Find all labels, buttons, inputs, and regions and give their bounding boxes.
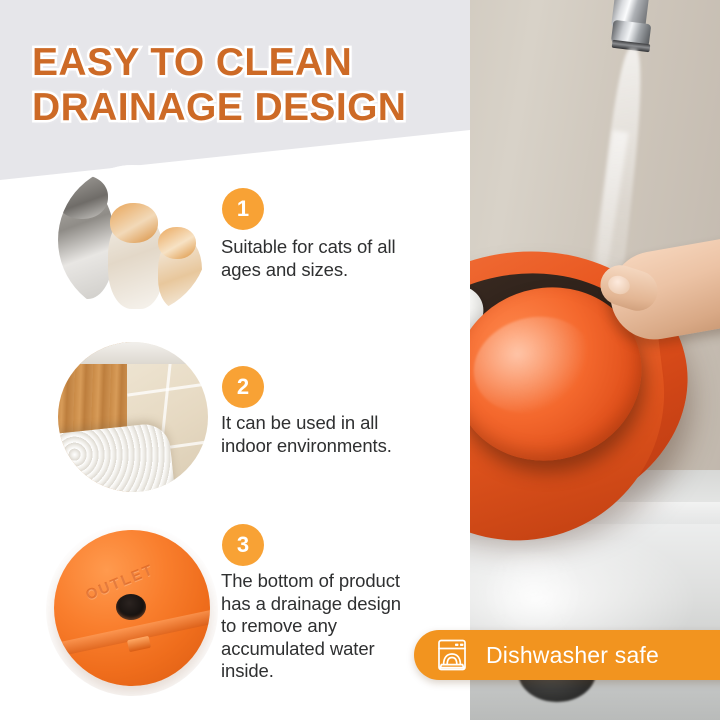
drainage-outlet-photo: OUTLET [46,524,218,696]
feature-number-3: 3 [222,524,264,566]
water-splash [478,552,588,642]
dishwasher-safe-badge: Dishwasher safe [414,630,720,680]
feature-number-2: 2 [222,366,264,408]
headline-line-1: EASY TO CLEAN [32,40,432,85]
feature-text-1: Suitable for cats of all ages and sizes. [221,236,403,281]
cats-image [58,165,208,315]
indoor-flooring-photo [58,342,208,492]
dishwasher-safe-label: Dishwasher safe [486,642,659,669]
headline-line-2: DRAINAGE DESIGN [32,85,432,130]
feature-text-3: The bottom of product has a drainage des… [221,570,403,683]
drain-hole [116,594,146,620]
page-title: EASY TO CLEAN DRAINAGE DESIGN [32,40,432,130]
feature-number-1: 1 [222,188,264,230]
baseboard-wall [58,342,208,364]
three-cats-photo [58,165,208,315]
feature-text-2: It can be used in all indoor environment… [221,412,403,457]
kitten-ginger-head [158,227,196,259]
dishwasher-icon [434,637,470,673]
infographic-canvas: EASY TO CLEAN DRAINAGE DESIGN 1 Suitable… [0,0,720,720]
shag-carpet [58,422,176,492]
product-base: OUTLET [54,530,210,686]
flooring-image [58,342,208,492]
cat-cream-head [110,203,158,243]
lid-water-sheen [462,303,603,426]
cat-grey-head [58,175,108,219]
